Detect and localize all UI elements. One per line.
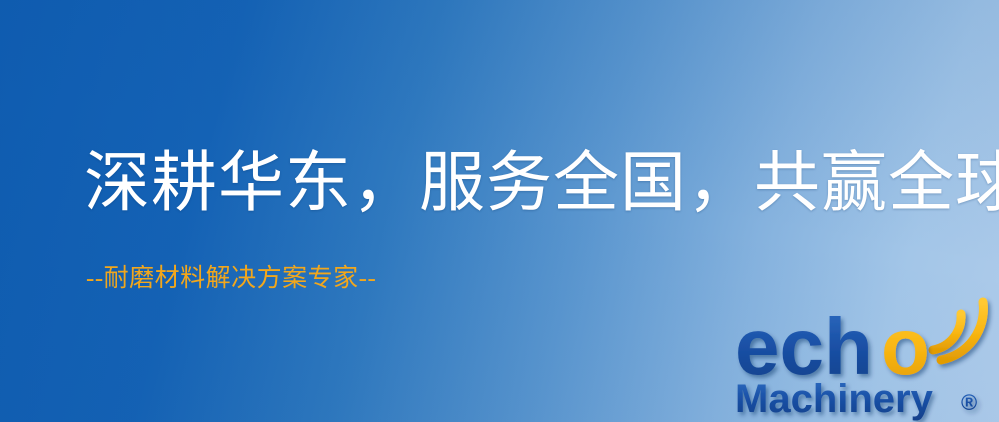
echo-wave-icon bbox=[933, 302, 983, 360]
registered-trademark-icon: ® bbox=[961, 390, 977, 415]
promo-banner: 深耕华东，服务全国，共赢全球 --耐磨材料解决方案专家-- bbox=[0, 0, 999, 422]
echo-machinery-logo: ech o Machinery ® bbox=[733, 292, 995, 422]
logo-machinery-label: Machinery bbox=[735, 377, 934, 421]
logo-machinery-text: Machinery ® bbox=[735, 377, 977, 421]
banner-headline: 深耕华东，服务全国，共赢全球 bbox=[84, 150, 999, 217]
banner-subtitle: --耐磨材料解决方案专家-- bbox=[86, 266, 376, 291]
